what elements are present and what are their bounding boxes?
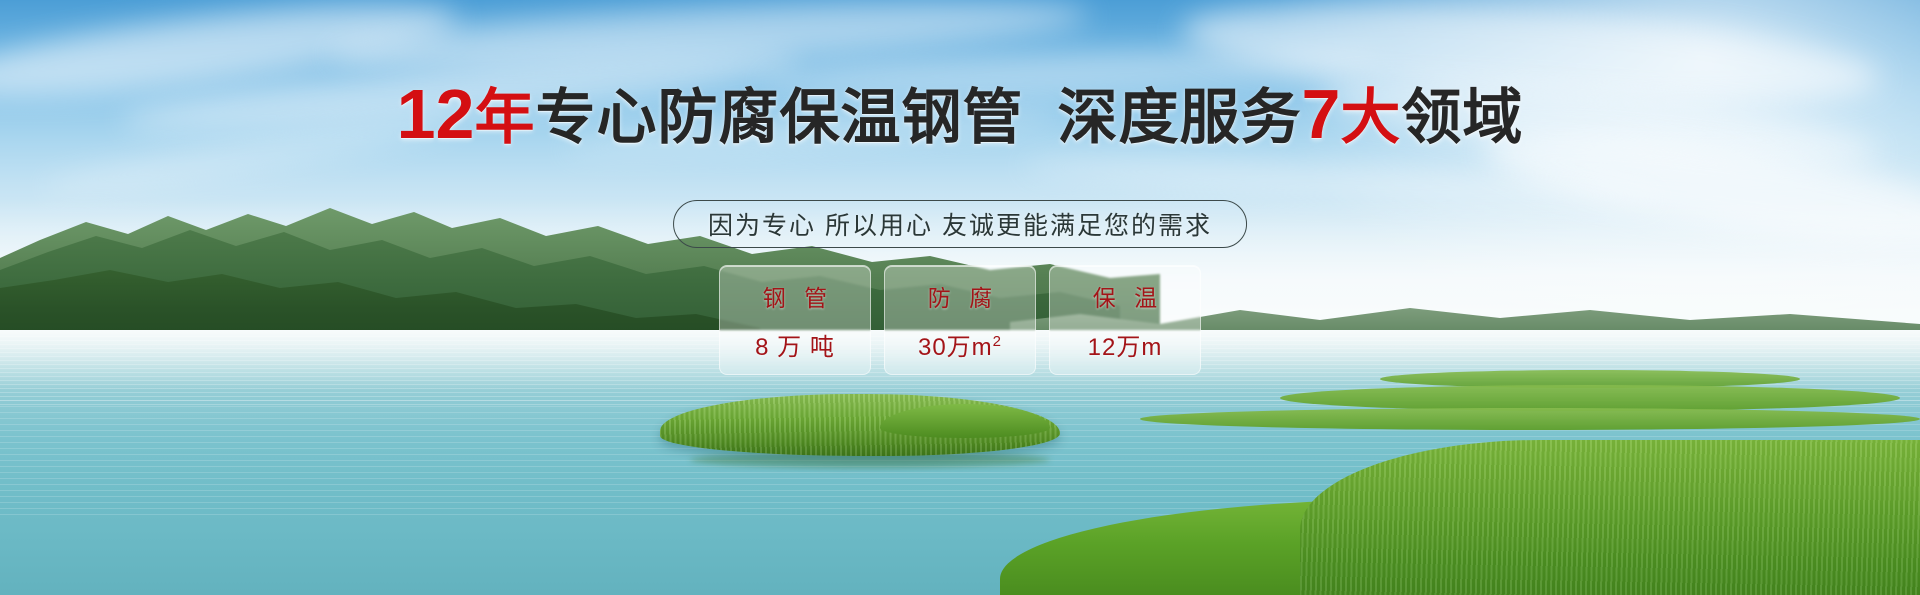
subtitle-text: 因为专心 所以用心 友诚更能满足您的需求 <box>708 206 1212 242</box>
stat-card-value: 30万m2 <box>918 327 1002 362</box>
page-title: 12年专心防腐保温钢管深度服务7大领域 <box>0 82 1920 150</box>
headline-fields-tail: 领域 <box>1401 84 1523 151</box>
stat-card-group: 钢 管 8 万 吨 防 腐 30万m2 保 温 12万m <box>719 265 1201 375</box>
banner-content: 12年专心防腐保温钢管深度服务7大领域 因为专心 所以用心 友诚更能满足您的需求… <box>0 0 1920 595</box>
promo-banner: 12年专心防腐保温钢管深度服务7大领域 因为专心 所以用心 友诚更能满足您的需求… <box>0 0 1920 595</box>
stat-card-label: 钢 管 <box>757 279 833 313</box>
headline-years-number: 12 <box>397 75 475 153</box>
stat-card-value: 8 万 吨 <box>755 327 835 362</box>
headline-fields-number: 7 <box>1301 75 1340 153</box>
stat-card-insulation: 保 温 12万m <box>1049 265 1201 375</box>
headline-service-text: 深度服务 <box>1057 84 1301 151</box>
stat-card-value: 12万m <box>1088 327 1163 362</box>
headline-years-unit: 年 <box>474 84 535 151</box>
stat-value-text: 30万m <box>918 334 993 361</box>
stat-value-superscript: 2 <box>993 333 1002 350</box>
subtitle-pill: 因为专心 所以用心 友诚更能满足您的需求 <box>673 200 1247 248</box>
stat-card-steel-pipe: 钢 管 8 万 吨 <box>719 265 871 375</box>
stat-card-anticorrosion: 防 腐 30万m2 <box>884 265 1036 375</box>
headline-fields-unit: 大 <box>1340 84 1401 151</box>
stat-card-label: 防 腐 <box>922 279 998 313</box>
stat-value-text: 12万m <box>1088 334 1163 361</box>
headline-lead-text: 专心防腐保温钢管 <box>535 84 1023 151</box>
stat-card-label: 保 温 <box>1087 279 1163 313</box>
stat-value-text: 8 万 吨 <box>755 334 835 361</box>
